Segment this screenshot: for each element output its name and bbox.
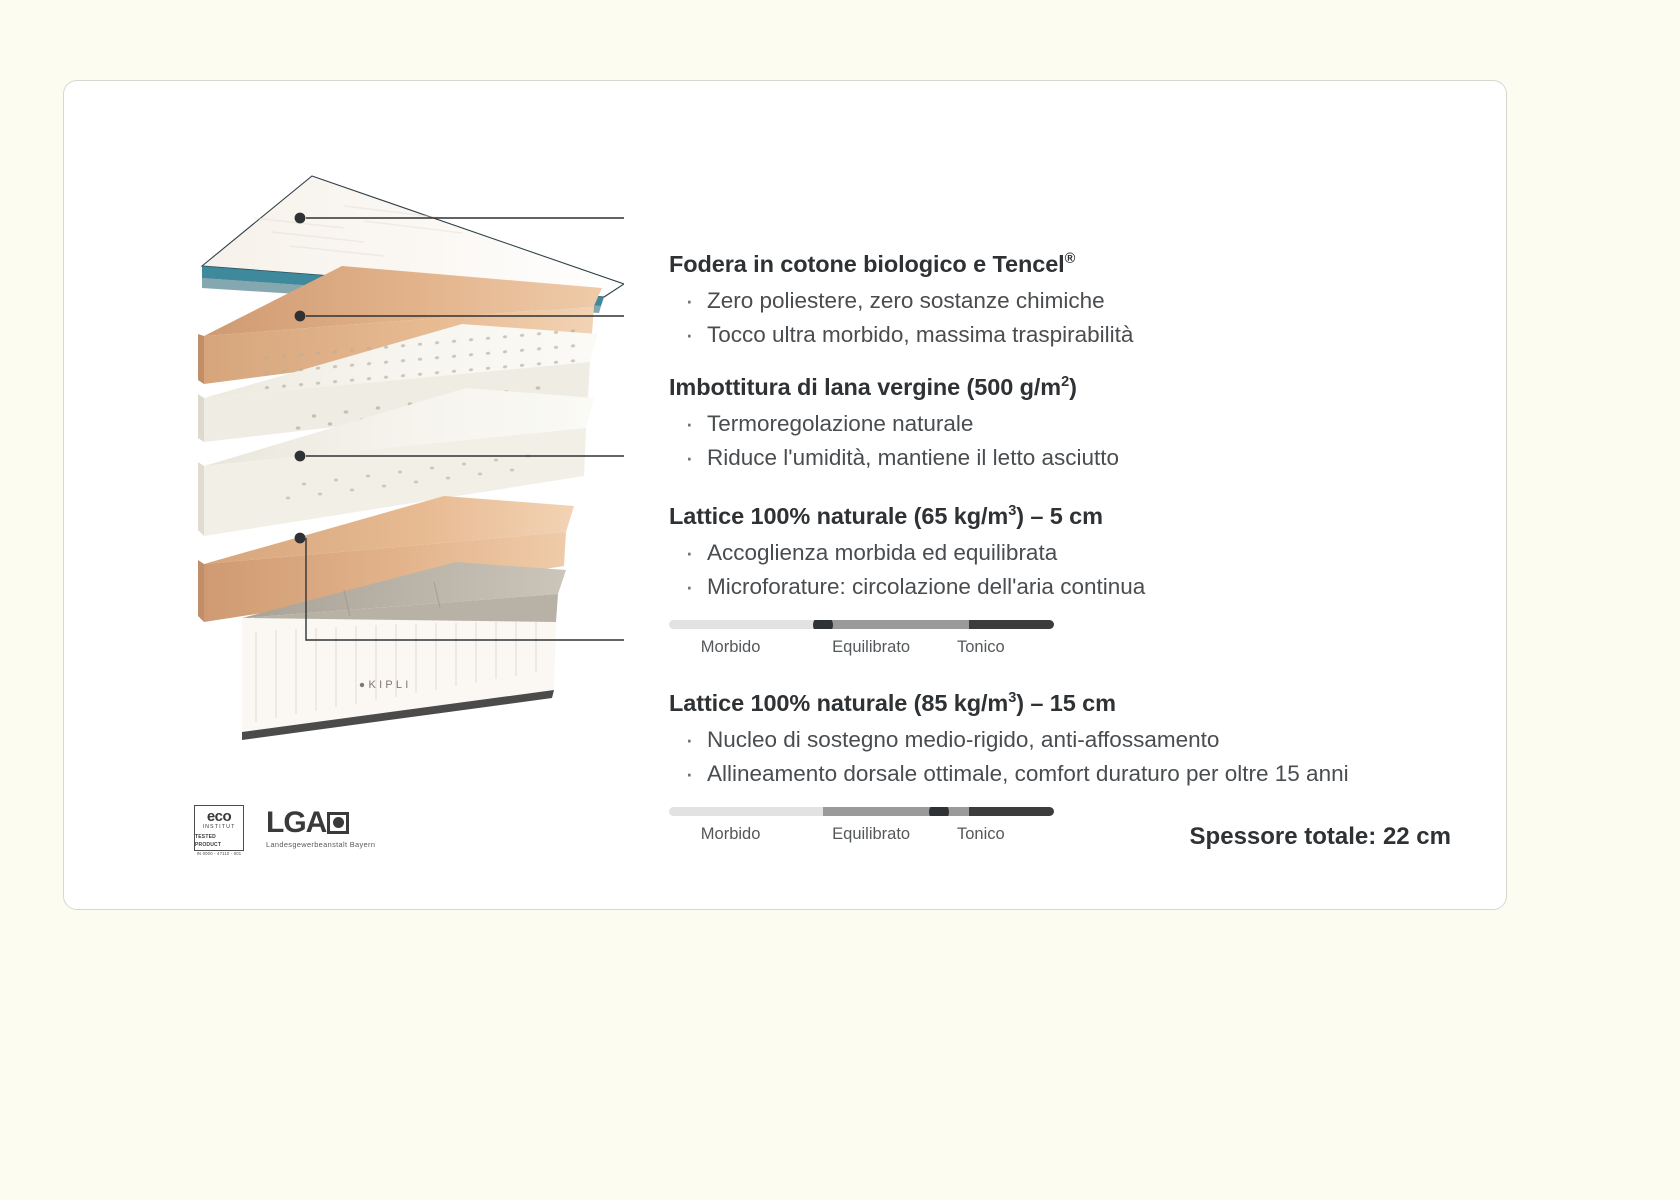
product-layers-card: KIPLI (63, 80, 1507, 910)
firmness-knob[interactable] (813, 620, 833, 629)
bullet-item: Allineamento dorsale ottimale, comfort d… (669, 757, 1349, 791)
firmness-segment-soft (669, 620, 823, 629)
section-wool-title: Imbottitura di lana vergine (500 g/m2) (669, 374, 1119, 401)
lga-word: LGA (266, 808, 326, 838)
total-thickness-label: Spessore totale: 22 cm (1190, 823, 1451, 851)
eco-institut-code: IN 0000 - 47110 - 001 (197, 850, 242, 857)
bullet-item: Zero poliestere, zero sostanze chimiche (669, 284, 1133, 318)
firmness-segment-soft (669, 807, 823, 816)
firmness-label-firm: Tonico (957, 638, 1005, 657)
superscript-three: 3 (1008, 503, 1016, 519)
section-cover: Fodera in cotone biologico e Tencel® Zer… (669, 251, 1133, 352)
section-wool: Imbottitura di lana vergine (500 g/m2) T… (669, 374, 1119, 475)
eco-institut-subtitle: INSTITUT (202, 824, 235, 831)
lga-mark-icon (327, 812, 349, 834)
section-latex-comfort-title: Lattice 100% naturale (65 kg/m3) – 5 cm (669, 503, 1145, 530)
firmness-label-soft: Morbido (701, 825, 761, 844)
superscript-three: 3 (1008, 690, 1016, 706)
firmness-label-balanced: Equilibrato (832, 638, 910, 657)
bullet-item: Nucleo di sostegno medio-rigido, anti-af… (669, 723, 1349, 757)
section-latex-core-bullets: Nucleo di sostegno medio-rigido, anti-af… (669, 723, 1349, 791)
firmness-slider-core[interactable]: Morbido Equilibrato Tonico (669, 807, 1054, 853)
firmness-labels: Morbido Equilibrato Tonico (669, 825, 1054, 847)
firmness-label-firm: Tonico (957, 825, 1005, 844)
firmness-label-balanced: Equilibrato (832, 825, 910, 844)
firmness-track[interactable] (669, 620, 1054, 629)
eco-institut-word: eco (207, 809, 231, 824)
section-latex-comfort: Lattice 100% naturale (65 kg/m3) – 5 cm … (669, 503, 1145, 666)
bullet-item: Accoglienza morbida ed equilibrata (669, 536, 1145, 570)
registered-trademark-icon: ® (1065, 251, 1076, 267)
section-latex-comfort-bullets: Accoglienza morbida ed equilibrata Micro… (669, 536, 1145, 604)
firmness-slider-comfort[interactable]: Morbido Equilibrato Tonico (669, 620, 1054, 666)
lga-badge: LGA Landesgewerbeanstalt Bayern (266, 808, 375, 849)
firmness-label-soft: Morbido (701, 638, 761, 657)
certification-badges: eco INSTITUT TESTED PRODUCT IN 0000 - 47… (194, 805, 375, 851)
bullet-item: Riduce l'umidità, mantiene il letto asci… (669, 441, 1119, 475)
section-wool-bullets: Termoregolazione naturale Riduce l'umidi… (669, 407, 1119, 475)
firmness-track[interactable] (669, 807, 1054, 816)
eco-institut-badge: eco INSTITUT TESTED PRODUCT IN 0000 - 47… (194, 805, 244, 851)
lga-dot-icon (333, 817, 344, 828)
mattress-layers-illustration: KIPLI (194, 166, 624, 786)
superscript-two: 2 (1061, 374, 1069, 390)
firmness-labels: Morbido Equilibrato Tonico (669, 638, 1054, 660)
section-cover-title: Fodera in cotone biologico e Tencel® (669, 251, 1133, 278)
bullet-item: Tocco ultra morbido, massima traspirabil… (669, 318, 1133, 352)
firmness-segment-balanced (823, 620, 969, 629)
lga-logo-row: LGA (266, 808, 375, 838)
eco-institut-tested: TESTED PRODUCT (195, 833, 243, 849)
section-latex-core-title: Lattice 100% naturale (85 kg/m3) – 15 cm (669, 690, 1349, 717)
firmness-segment-firm (969, 807, 1054, 816)
infographic-canvas: KIPLI (0, 0, 1680, 1200)
lga-subtitle: Landesgewerbeanstalt Bayern (266, 840, 375, 849)
bullet-item: Microforature: circolazione dell'aria co… (669, 570, 1145, 604)
section-cover-bullets: Zero poliestere, zero sostanze chimiche … (669, 284, 1133, 352)
firmness-knob[interactable] (929, 807, 949, 816)
brand-label: KIPLI (369, 679, 412, 691)
bullet-item: Termoregolazione naturale (669, 407, 1119, 441)
firmness-segment-firm (969, 620, 1054, 629)
